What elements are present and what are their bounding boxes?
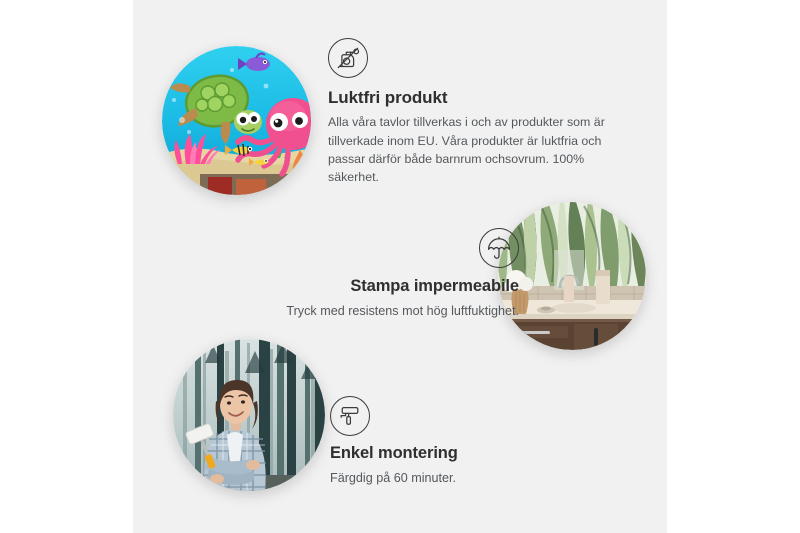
feature-waterproof: Stampa impermeabile Tryck med resistens … bbox=[188, 228, 519, 320]
photo-forest bbox=[173, 339, 325, 491]
icon-wrap-waterproof bbox=[188, 228, 519, 268]
feature-odor-free: Luktfri produkt Alla våra tavlor tillver… bbox=[328, 38, 623, 187]
umbrella-icon bbox=[479, 228, 519, 268]
feature-description: Färgdig på 60 minuter. bbox=[330, 469, 590, 488]
feature-panel: Luktfri produkt Alla våra tavlor tillver… bbox=[133, 0, 667, 533]
feature-description: Alla våra tavlor tillverkas i och av pro… bbox=[328, 113, 623, 186]
icon-wrap-easy-mount bbox=[330, 396, 590, 436]
paint-roller-icon bbox=[330, 396, 370, 436]
feature-title: Luktfri produkt bbox=[328, 88, 623, 108]
no-fragrance-icon bbox=[328, 38, 368, 78]
photo-underwater bbox=[162, 46, 311, 195]
feature-title: Stampa impermeabile bbox=[188, 277, 519, 297]
photo-bathroom bbox=[498, 202, 646, 350]
feature-title: Enkel montering bbox=[330, 444, 590, 464]
icon-wrap-odor-free bbox=[328, 38, 623, 78]
page-root: Luktfri produkt Alla våra tavlor tillver… bbox=[0, 0, 800, 533]
feature-easy-mount: Enkel montering Färgdig på 60 minuter. bbox=[330, 396, 590, 487]
feature-description: Tryck med resistens mot hög luftfuktighe… bbox=[188, 302, 519, 321]
